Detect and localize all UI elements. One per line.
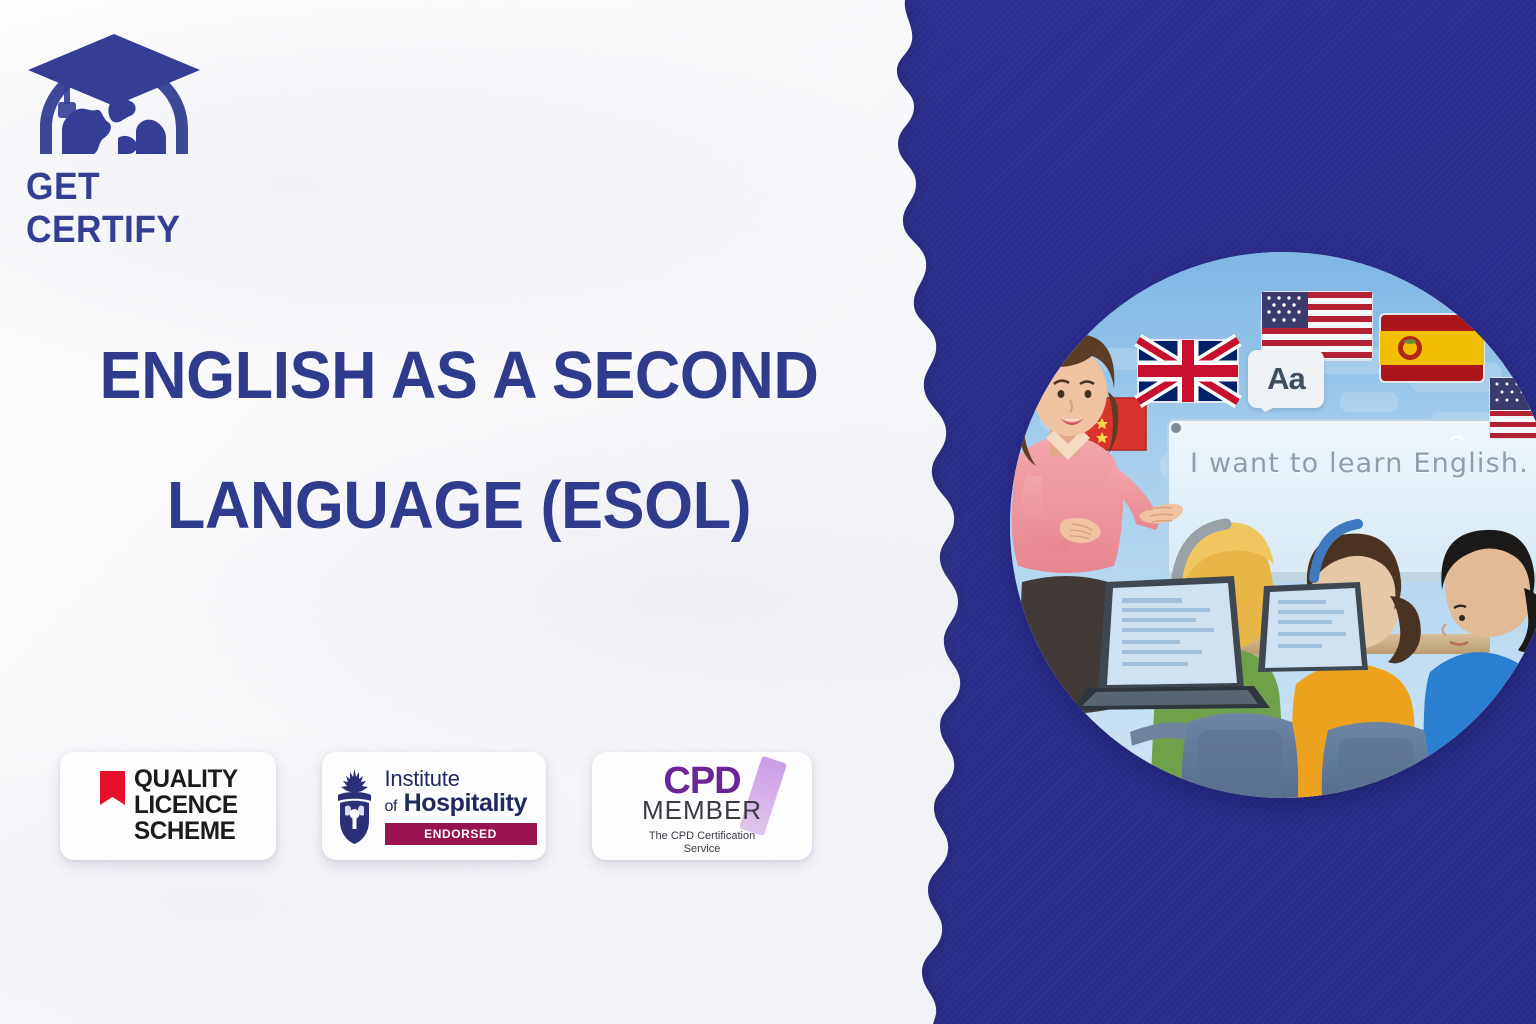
badge-qls-line1: QUALITY [134, 767, 238, 793]
badge-institute-of-hospitality[interactable]: Institute of Hospitality ENDORSED [322, 752, 546, 860]
badge-cpd-sub2: Service [649, 843, 755, 856]
badge-ioh-hospitality: Hospitality [404, 789, 527, 817]
laptop-back [1258, 582, 1368, 672]
aa-speech-bubble-icon: Aa [1248, 350, 1324, 408]
classroom-illustration: I want to learn English. Aa [1010, 252, 1536, 798]
graduation-cap-globe-icon [14, 26, 214, 176]
course-banner: GET CERTIFY ENGLISH AS A SECOND LANGUAGE… [0, 0, 1536, 1024]
badge-cpd-sub1: The CPD Certification [649, 830, 755, 843]
badge-cpd-member[interactable]: CPD MEMBER The CPD Certification Service [592, 752, 812, 860]
uk-flag [1138, 340, 1238, 402]
brand-logo[interactable]: GET CERTIFY [14, 26, 214, 206]
brand-logo-text: GET CERTIFY [26, 166, 201, 252]
red-bookmark-icon [100, 771, 125, 805]
badge-qls-line2: LICENCE [134, 793, 238, 819]
badge-ioh-of: of [385, 798, 398, 815]
badge-ioh-line1: Institute [385, 767, 460, 790]
heraldic-crest-icon [332, 767, 377, 845]
page-title-line2: LANGUAGE (ESOL) [88, 472, 831, 539]
page-title-line1: ENGLISH AS A SECOND [88, 342, 831, 409]
badge-ioh-endorsed-ribbon: ENDORSED [385, 823, 537, 845]
spain-flag [1380, 314, 1484, 382]
page-title: ENGLISH AS A SECOND LANGUAGE (ESOL) [64, 342, 854, 539]
badge-quality-licence-scheme[interactable]: QUALITY LICENCE SCHEME [60, 752, 276, 860]
badge-cpd-member-text: MEMBER [642, 797, 762, 823]
aa-bubble-text: Aa [1267, 361, 1305, 397]
badge-qls-line3: SCHEME [134, 819, 238, 845]
whiteboard-text: I want to learn English. [1190, 448, 1529, 479]
accreditation-badges: QUALITY LICENCE SCHEME [60, 752, 812, 860]
